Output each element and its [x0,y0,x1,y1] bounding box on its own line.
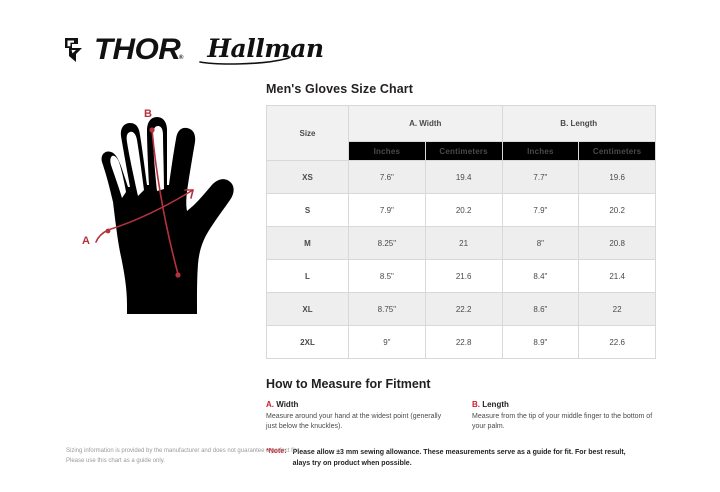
col-head-width-centimeters: Centimeters [425,142,502,161]
label-a: A [82,235,90,247]
cell-length-centimeters: 19.6 [579,161,656,194]
cell-width-centimeters: 22.8 [425,326,502,359]
footer-disclaimer: Sizing information is provided by the ma… [66,446,396,466]
chart-column: Men's Gloves Size Chart Size A. Width B.… [266,82,656,469]
width-prefix: A. [266,400,274,409]
table-row: 2XL 9" 22.8 8.9" 22.6 [267,326,656,359]
thor-wordmark: THOR [94,35,180,65]
size-chart-table: Size A. Width B. Length Inches Centimete… [266,105,656,359]
col-group-length: B. Length [502,106,656,142]
table-row: L 8.5" 21.6 8.4" 21.4 [267,260,656,293]
how-to-length-text: Measure from the tip of your middle fing… [472,412,656,432]
cell-width-inches: 8.75" [349,293,426,326]
table-row: S 7.9" 20.2 7.9" 20.2 [267,194,656,227]
table-body: XS 7.6" 19.4 7.7" 19.6 S 7.9" 20.2 7.9" … [267,161,656,359]
glove-silhouette-icon [102,117,234,314]
table-head: Size A. Width B. Length Inches Centimete… [267,106,656,161]
table-row: XS 7.6" 19.4 7.7" 19.6 [267,161,656,194]
cell-length-inches: 8.9" [502,326,579,359]
cell-width-centimeters: 20.2 [425,194,502,227]
page-title: Men's Gloves Size Chart [266,82,656,96]
footer-line-2: Please use this chart as a guide only. [66,456,396,466]
col-head-width-inches: Inches [349,142,426,161]
cell-size: XL [267,293,349,326]
cell-width-inches: 9" [349,326,426,359]
table-row: M 8.25" 21 8" 20.8 [267,227,656,260]
size-chart-page: THOR ® Hallman [0,0,720,492]
col-head-length-centimeters: Centimeters [579,142,656,161]
length-label: Length [480,400,509,409]
table-row: XL 8.75" 22.2 8.6" 22 [267,293,656,326]
cell-length-inches: 8.4" [502,260,579,293]
brand-logo-bar: THOR ® Hallman [62,30,324,70]
length-prefix: B. [472,400,480,409]
cell-width-inches: 7.6" [349,161,426,194]
cell-length-centimeters: 22 [579,293,656,326]
cell-width-inches: 8.5" [349,260,426,293]
cell-length-inches: 8.6" [502,293,579,326]
cell-width-inches: 7.9" [349,194,426,227]
col-head-size: Size [267,106,349,161]
cell-length-centimeters: 20.2 [579,194,656,227]
footer-line-1: Sizing information is provided by the ma… [66,446,396,456]
cell-length-centimeters: 21.4 [579,260,656,293]
thor-hammer-icon [62,35,92,65]
how-to-width-text: Measure around your hand at the widest p… [266,412,450,432]
cell-length-inches: 7.7" [502,161,579,194]
how-to-width-heading: A. Width [266,400,450,409]
how-to-width-block: A. Width Measure around your hand at the… [266,400,450,432]
cell-length-inches: 7.9" [502,194,579,227]
table-head-row-groups: Size A. Width B. Length [267,106,656,142]
cell-width-centimeters: 21.6 [425,260,502,293]
how-to-measure-title: How to Measure for Fitment [266,377,656,391]
glove-measurement-diagram: B A [60,92,265,320]
cell-width-centimeters: 22.2 [425,293,502,326]
cell-width-centimeters: 21 [425,227,502,260]
cell-size: M [267,227,349,260]
how-to-length-block: B. Length Measure from the tip of your m… [472,400,656,432]
cell-width-inches: 8.25" [349,227,426,260]
hallman-swash-icon [199,55,291,65]
width-label: Width [274,400,298,409]
hallman-logo: Hallman [197,37,323,63]
cell-length-centimeters: 20.8 [579,227,656,260]
cell-width-centimeters: 19.4 [425,161,502,194]
label-b: B [144,108,152,120]
how-to-length-heading: B. Length [472,400,656,409]
cell-size: L [267,260,349,293]
cell-length-inches: 8" [502,227,579,260]
cell-size: 2XL [267,326,349,359]
cell-size: S [267,194,349,227]
col-head-length-inches: Inches [502,142,579,161]
col-group-width: A. Width [349,106,503,142]
cell-size: XS [267,161,349,194]
cell-length-centimeters: 22.6 [579,326,656,359]
thor-logo: THOR ® [62,35,183,65]
